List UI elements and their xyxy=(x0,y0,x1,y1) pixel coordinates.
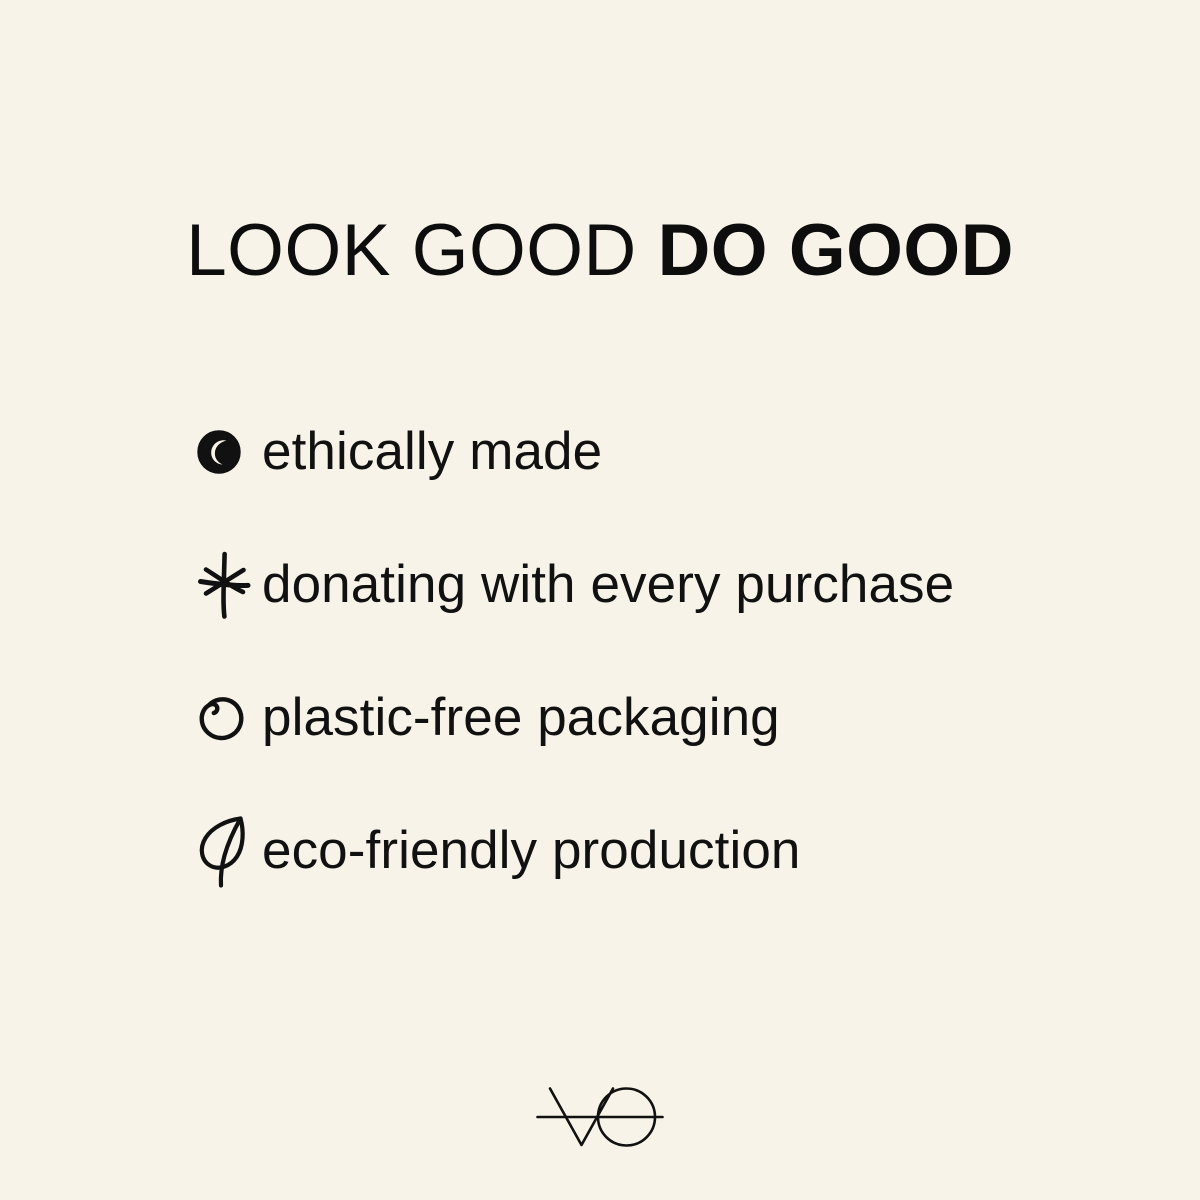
filled-circle-crescent-icon xyxy=(196,412,262,492)
list-item: donating with every purchase xyxy=(196,545,1096,625)
list-item-label: donating with every purchase xyxy=(262,556,954,614)
list-item-label: plastic-free packaging xyxy=(262,689,780,747)
list-item: eco-friendly production xyxy=(196,811,1096,891)
headline-light-text: LOOK GOOD xyxy=(186,210,657,291)
feature-list: ethically made donating with every purch… xyxy=(196,412,1096,891)
page-title: LOOK GOOD DO GOOD xyxy=(0,212,1200,290)
list-item-label: ethically made xyxy=(262,423,602,481)
headline-bold-text: DO GOOD xyxy=(658,210,1014,291)
list-item: ethically made xyxy=(196,412,1096,492)
asterisk-star-icon xyxy=(196,545,262,625)
list-item: plastic-free packaging xyxy=(196,678,1096,758)
vo-logo xyxy=(0,1078,1200,1156)
poster-canvas: LOOK GOOD DO GOOD ethically made xyxy=(0,0,1200,1200)
circle-spiral-icon xyxy=(196,678,262,758)
leaf-icon xyxy=(196,811,262,891)
list-item-label: eco-friendly production xyxy=(262,822,801,880)
